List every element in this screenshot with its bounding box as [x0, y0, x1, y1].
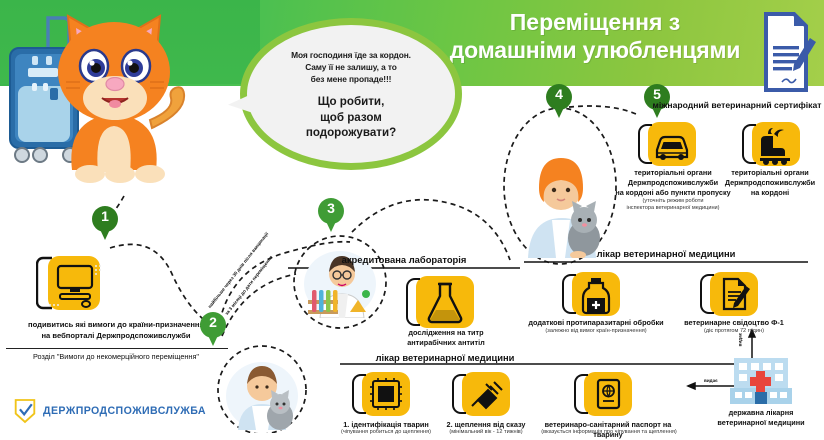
step4-item2-label: ветеринарне свідоцтво Ф-1	[672, 318, 796, 328]
bracket-deco-6	[700, 274, 714, 314]
certificate-pen-icon-tile	[710, 272, 758, 316]
logo: ДЕРЖПРОДСПОЖИВСЛУЖБА	[14, 398, 206, 424]
pin-number-4: 4	[546, 86, 572, 102]
step5-header: міжнародний ветеринарний сертифікат	[650, 100, 824, 110]
step5-item1-note: (уточніть режим роботи інспектора ветери…	[612, 198, 734, 213]
step4-item1-note: (залежно від вимог країн-призначення)	[522, 328, 670, 335]
document-pen-icon	[752, 8, 818, 96]
step5-item2-line1: територіальні органи	[716, 168, 824, 178]
step-pin-1[interactable]: 1	[92, 206, 118, 240]
step5-item2-line2: Держпродспоживслужби	[716, 178, 824, 188]
pin-point-4	[551, 101, 567, 118]
step5-item2-line3: на кордоні	[716, 188, 824, 198]
step3-item-label-line1: дослідження на титр	[382, 328, 510, 338]
hospital-caption-line1: державна лікарня	[700, 408, 822, 418]
step3-item-label: дослідження на титр антирабічних антитіл	[382, 328, 510, 348]
arrow-label-left: видає	[704, 378, 718, 383]
cat-icon	[58, 16, 184, 183]
infographic-root: Переміщення з домашніми улюбленцями	[0, 0, 824, 433]
vet-with-cat-icon	[222, 352, 302, 430]
hospital-caption: державна лікарня ветеринарної медицини	[700, 408, 822, 428]
pin-number-1: 1	[92, 208, 118, 224]
page-title-line2: домашніми улюбленцями	[430, 36, 760, 64]
monitor-computer-icon	[36, 252, 110, 314]
bracket-deco-7	[638, 124, 652, 164]
flask-icon	[416, 276, 474, 328]
car-icon	[648, 122, 696, 166]
page-title-line1: Переміщення з	[430, 8, 760, 36]
speech-bubble-inner: Моя господиня їде за кордон. Саму її не …	[247, 25, 455, 163]
step5-item1-note-line2: інспектора ветеринарної медицини)	[612, 205, 734, 212]
flask-icon-tile	[416, 276, 474, 328]
bubble-q-2: щоб разом	[306, 110, 396, 125]
step3-item-label-line2: антирабічних антитіл	[382, 338, 510, 348]
step1-subcaption: Розділ "Вимоги до некомерційного переміщ…	[2, 352, 230, 361]
pin-number-2: 2	[200, 314, 226, 330]
step5-item2-label: територіальні органи Держпродспоживслужб…	[716, 168, 824, 197]
bracket-deco-8	[742, 124, 756, 164]
bubble-q-3: подорожувати?	[306, 125, 396, 140]
pin-point-1	[97, 223, 113, 240]
bracket-deco-2	[452, 374, 466, 414]
car-icon-tile	[648, 122, 696, 166]
passport-icon-tile	[584, 372, 632, 416]
step-pin-4[interactable]: 4	[546, 84, 572, 118]
pin-number-3: 3	[318, 200, 344, 216]
step1-divider	[6, 348, 228, 349]
shield-check-icon	[14, 398, 36, 424]
microchip-icon-tile	[362, 372, 410, 416]
bracket-deco-5	[562, 274, 576, 314]
train-icon	[752, 122, 800, 166]
bubble-q-1: Що робити,	[306, 94, 396, 109]
hospital-building-icon	[722, 352, 800, 406]
step1-caption-line2: на вебпорталі Держпродспоживслужби	[2, 331, 230, 342]
step-pin-3[interactable]: 3	[318, 198, 344, 232]
step5-item1-note-line1: (уточніть режим роботи	[612, 198, 734, 205]
hospital-caption-line2: ветеринарної медицини	[700, 418, 822, 428]
cat-with-suitcase-illustration	[2, 0, 232, 185]
bubble-line-3: без мене пропаде!!!	[291, 74, 411, 86]
bubble-line-2: Саму її не залишу, а то	[291, 62, 411, 74]
step3-group-header: акредитована лабораторія	[290, 254, 518, 265]
page-title: Переміщення з домашніми улюбленцями	[430, 8, 760, 64]
pin-point-3	[323, 215, 339, 232]
step4-item2-note: (діє протягом 72 годин)	[676, 328, 792, 335]
bubble-line-1: Моя господиня їде за кордон.	[291, 50, 411, 62]
bracket-deco-1	[352, 374, 366, 414]
step2-group-header: лікар ветеринарної медицини	[340, 352, 550, 363]
syringe-icon	[462, 372, 510, 416]
certificate-pen-icon	[710, 272, 758, 316]
step-pin-2[interactable]: 2	[200, 312, 226, 346]
step4-item1-label: додаткові протипаразитарні обробки	[520, 318, 672, 328]
step1-caption: подивитись які вимоги до країни-призначе…	[2, 320, 230, 342]
passport-icon	[584, 372, 632, 416]
step1-caption-line1: подивитись які вимоги до країни-призначе…	[2, 320, 230, 331]
train-icon-tile	[752, 122, 800, 166]
speech-bubble-top-text: Моя господиня їде за кордон. Саму її не …	[291, 50, 411, 86]
syringe-icon-tile	[462, 372, 510, 416]
step-pin-5[interactable]: 5	[644, 84, 670, 118]
step4-group-header: лікар ветеринарної медицини	[524, 248, 808, 259]
bracket-deco-4	[406, 278, 420, 326]
vet-woman-with-cat-icon	[516, 142, 606, 258]
speech-bubble-question: Що робити, щоб разом подорожувати?	[306, 94, 396, 140]
arrow-label-up: видає	[738, 333, 743, 347]
microchip-icon	[362, 372, 410, 416]
vaccine-bottle-icon	[572, 272, 620, 316]
pin-point-2	[205, 329, 221, 346]
vaccine-bottle-icon-tile	[572, 272, 620, 316]
logo-text: ДЕРЖПРОДСПОЖИВСЛУЖБА	[43, 405, 206, 417]
pin-number-5: 5	[644, 86, 670, 102]
speech-bubble: Моя господиня їде за кордон. Саму її не …	[240, 18, 462, 170]
bracket-deco-3	[574, 374, 588, 414]
